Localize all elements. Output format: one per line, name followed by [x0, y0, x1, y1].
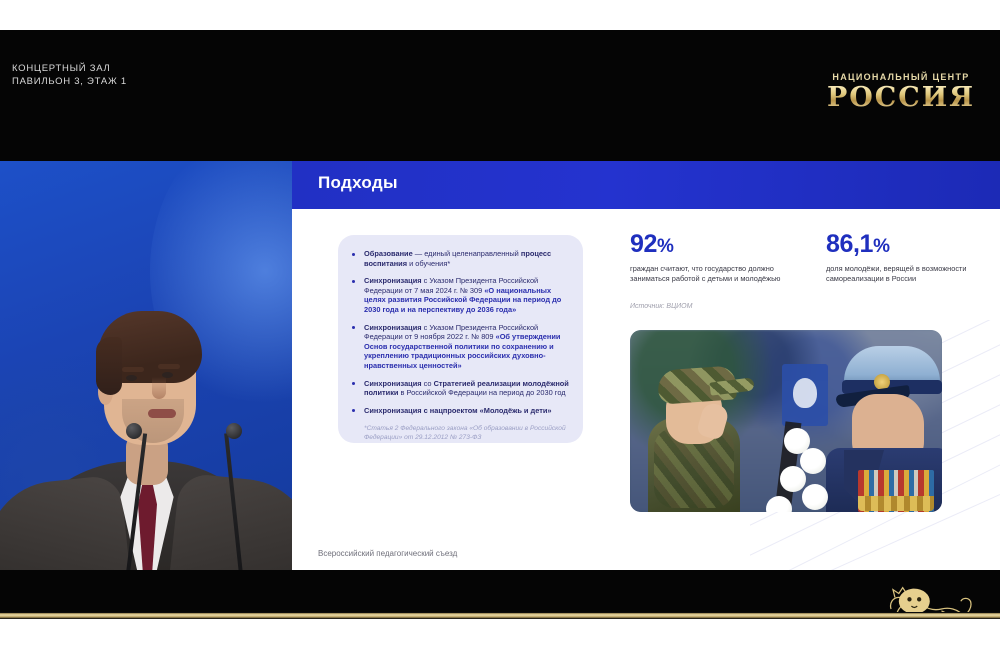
speaker-eye-left	[126, 375, 137, 381]
speaker-brow-right	[158, 364, 180, 369]
microphone-head-right	[226, 423, 242, 439]
photo-flowers	[778, 426, 860, 512]
gold-stripe	[0, 612, 1000, 619]
venue-line-1: КОНЦЕРТНЫЙ ЗАЛ	[12, 62, 127, 75]
approach-text-fragment: со	[422, 379, 434, 388]
approach-item: Синхронизация со Стратегией реализации м…	[364, 379, 569, 398]
stat-card-861: 86,1% доля молодёжи, верящей в возможнос…	[826, 231, 982, 284]
veteran-medals	[858, 470, 934, 512]
approach-text-fragment: Синхронизация	[364, 379, 422, 388]
venue-line-2: ПАВИЛЬОН 3, ЭТАЖ 1	[12, 75, 127, 88]
stat-source: Источник: ВЦИОМ	[630, 303, 692, 310]
national-centre-logo: НАЦИОНАЛЬНЫЙ ЦЕНТР РОССИЯ	[816, 72, 986, 111]
stat-value-92: 92%	[630, 231, 810, 260]
approach-text-fragment: Синхронизация	[364, 276, 422, 285]
flower-2	[800, 448, 826, 474]
speaker-nose	[152, 377, 166, 399]
stat-description-92: граждан считают, что государство должно …	[630, 264, 810, 284]
veteran-salute-photo	[630, 330, 942, 512]
slide-footer: Всероссийский педагогический съезд	[318, 549, 457, 558]
stat-value-861: 86,1%	[826, 231, 982, 260]
gold-lion-emblem	[865, 578, 983, 612]
approach-text-fragment: и обучения*	[407, 259, 450, 268]
microphone-head-left	[126, 423, 142, 439]
stat-card-92: 92% граждан считают, что государство дол…	[630, 231, 810, 284]
speaker-video	[0, 161, 292, 570]
speaker-sideburn	[96, 337, 122, 395]
flower-3	[780, 466, 806, 492]
stat-description-861: доля молодёжи, верящей в возможности сам…	[826, 264, 982, 284]
flower-5	[766, 496, 792, 512]
approaches-card: Образование — единый целенаправленный пр…	[338, 235, 583, 443]
approach-text-fragment: в Российской Федерации на период до 2030…	[398, 388, 565, 397]
screenshot-root: КОНЦЕРТНЫЙ ЗАЛ ПАВИЛЬОН 3, ЭТАЖ 1 НАЦИОН…	[0, 0, 1000, 667]
speaker-mouth	[148, 409, 176, 418]
venue-caption: КОНЦЕРТНЫЙ ЗАЛ ПАВИЛЬОН 3, ЭТАЖ 1	[12, 62, 127, 88]
approach-text-fragment: Образование	[364, 249, 413, 258]
presentation-slide: Подходы Образование — единый целенаправл…	[292, 161, 1000, 570]
approach-item: Образование — единый целенаправленный пр…	[364, 249, 569, 268]
slide-title: Подходы	[318, 173, 398, 193]
speaker-brow-left	[122, 367, 144, 372]
approach-item: Синхронизация с Указом Президента Россий…	[364, 276, 569, 314]
brand-subtitle: НАЦИОНАЛЬНЫЙ ЦЕНТР	[816, 72, 986, 82]
footnote: *Статья 2 Федерального закона «Об образо…	[338, 425, 583, 442]
approach-text-fragment: Синхронизация	[364, 323, 422, 332]
approach-text-fragment: — единый целенаправленный	[413, 249, 521, 258]
approach-item: Синхронизация с нацпроектом «Молодёжь и …	[364, 406, 569, 416]
approach-item: Синхронизация с Указом Президента Россий…	[364, 323, 569, 371]
flower-4	[802, 484, 828, 510]
slide-header-banner: Подходы	[292, 161, 1000, 209]
brand-title: РОССИЯ	[816, 84, 986, 111]
approaches-list: Образование — единый целенаправленный пр…	[338, 235, 583, 415]
photo-blue-bag	[782, 364, 828, 426]
approach-text-fragment: Синхронизация с нацпроектом «Молодёжь и …	[364, 406, 552, 415]
broadcast-frame: КОНЦЕРТНЫЙ ЗАЛ ПАВИЛЬОН 3, ЭТАЖ 1 НАЦИОН…	[0, 30, 1000, 612]
